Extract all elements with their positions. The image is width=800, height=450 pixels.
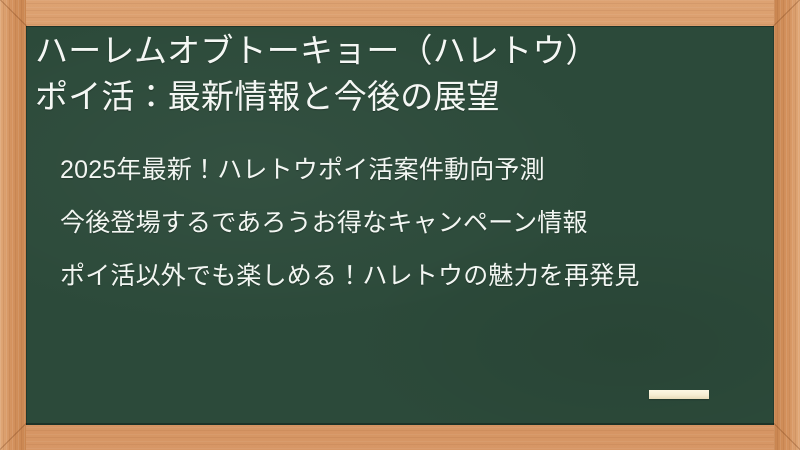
page-title: ハーレムオブトーキョー（ハレトウ） ポイ活：最新情報と今後の展望 <box>35 28 735 120</box>
chalk-stick-icon <box>649 390 709 399</box>
chalkboard-surface: ハーレムオブトーキョー（ハレトウ） ポイ活：最新情報と今後の展望 2025年最新… <box>26 26 774 425</box>
blackboard-wooden-frame: ハーレムオブトーキョー（ハレトウ） ポイ活：最新情報と今後の展望 2025年最新… <box>0 0 800 450</box>
list-item: 今後登場するであろうお得なキャンペーン情報 <box>60 203 748 244</box>
frame-left-stile <box>0 0 26 450</box>
list-item: 2025年最新！ハレトウポイ活案件動向予測 <box>60 150 748 191</box>
topic-list: 2025年最新！ハレトウポイ活案件動向予測 今後登場するであろうお得なキャンペー… <box>60 150 748 297</box>
frame-right-stile <box>774 0 800 450</box>
list-item: ポイ活以外でも楽しめる！ハレトウの魅力を再発見 <box>60 256 748 297</box>
chalkboard-content: ハーレムオブトーキョー（ハレトウ） ポイ活：最新情報と今後の展望 2025年最新… <box>26 26 774 425</box>
